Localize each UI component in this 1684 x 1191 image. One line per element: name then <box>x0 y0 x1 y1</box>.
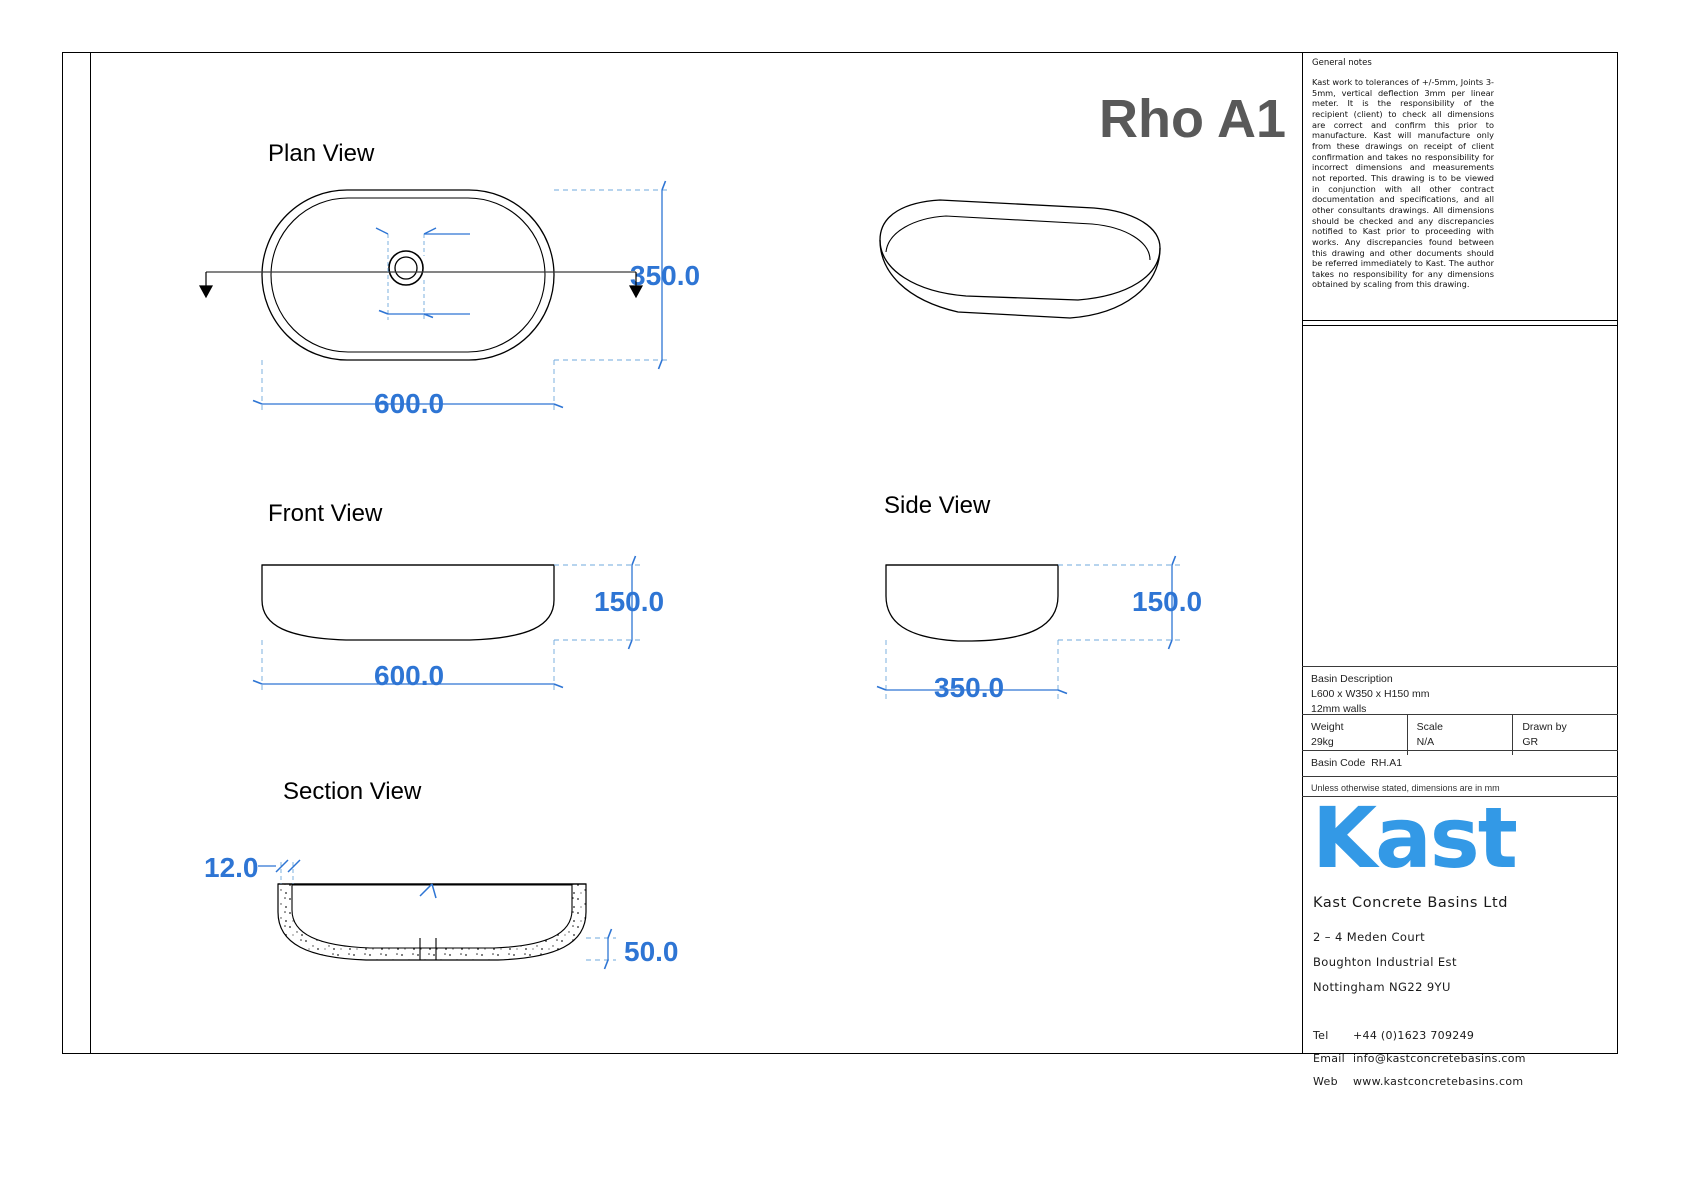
drawn-by-value: GR <box>1522 735 1609 750</box>
dim-section-wall: 12.0 <box>204 852 259 884</box>
basin-code-label: Basin Code <box>1311 757 1365 769</box>
company-name: Kast Concrete Basins Ltd <box>1313 895 1508 911</box>
general-notes-body: Kast work to tolerances of +/-5mm, Joint… <box>1312 77 1494 290</box>
contact-email[interactable]: Emailinfo@kastconcretebasins.com <box>1313 1052 1526 1065</box>
email-value[interactable]: info@kastconcretebasins.com <box>1353 1052 1526 1065</box>
caption-section-view: Section View <box>283 778 421 806</box>
weight-value: 29kg <box>1311 735 1398 750</box>
caption-plan-view: Plan View <box>268 140 374 168</box>
general-notes-panel: General notes Kast work to tolerances of… <box>1312 58 1494 290</box>
dim-front-height: 150.0 <box>594 586 664 618</box>
dim-section-base: 50.0 <box>624 936 679 968</box>
notes-divider-1 <box>1302 320 1618 321</box>
email-label: Email <box>1313 1052 1353 1065</box>
contact-web[interactable]: Webwww.kastconcretebasins.com <box>1313 1075 1523 1088</box>
caption-front-view: Front View <box>268 500 382 528</box>
tel-value: +44 (0)1623 709249 <box>1353 1029 1474 1042</box>
title-block-basin-code: Basin Code RH.A1 <box>1302 750 1618 776</box>
web-value[interactable]: www.kastconcretebasins.com <box>1353 1075 1523 1088</box>
notes-divider-2 <box>1302 325 1618 326</box>
drawing-sheet: Rho A1 Plan View Front View Side View Se… <box>0 0 1684 1191</box>
drawn-by-label: Drawn by <box>1522 720 1609 735</box>
basin-code-value: RH.A1 <box>1371 757 1402 769</box>
kast-logo: Kast <box>1312 800 1516 877</box>
dim-plan-depth: 350.0 <box>630 260 700 292</box>
dim-side-width: 350.0 <box>934 672 1004 704</box>
scale-label: Scale <box>1417 720 1504 735</box>
address-line-2: Boughton Industrial Est <box>1313 955 1457 969</box>
scale-value: N/A <box>1417 735 1504 750</box>
basin-description-label: Basin Description <box>1311 672 1609 687</box>
basin-code-cell: Basin Code RH.A1 <box>1302 751 1618 776</box>
page-title: Rho A1 <box>1086 88 1286 150</box>
dim-side-height: 150.0 <box>1132 586 1202 618</box>
web-label: Web <box>1313 1075 1353 1088</box>
dim-waste-offset-x: 65.0 <box>442 300 497 332</box>
address-line-1: 2 – 4 Meden Court <box>1313 930 1425 944</box>
dim-waste-offset-y: 45.0 <box>442 222 497 254</box>
address-line-3: Nottingham NG22 9YU <box>1313 980 1451 994</box>
dim-plan-width: 600.0 <box>374 388 444 420</box>
sheet-border-left-margin <box>90 52 91 1054</box>
tel-label: Tel <box>1313 1029 1353 1042</box>
title-block-divider <box>1302 52 1303 1054</box>
basin-description-line1: L600 x W350 x H150 mm <box>1311 687 1609 702</box>
caption-side-view: Side View <box>884 492 990 520</box>
dim-front-width: 600.0 <box>374 660 444 692</box>
dim-section-inner-depth: 100.0 <box>392 897 462 929</box>
general-notes-heading: General notes <box>1312 58 1494 68</box>
weight-label: Weight <box>1311 720 1398 735</box>
contact-tel: Tel+44 (0)1623 709249 <box>1313 1029 1474 1042</box>
